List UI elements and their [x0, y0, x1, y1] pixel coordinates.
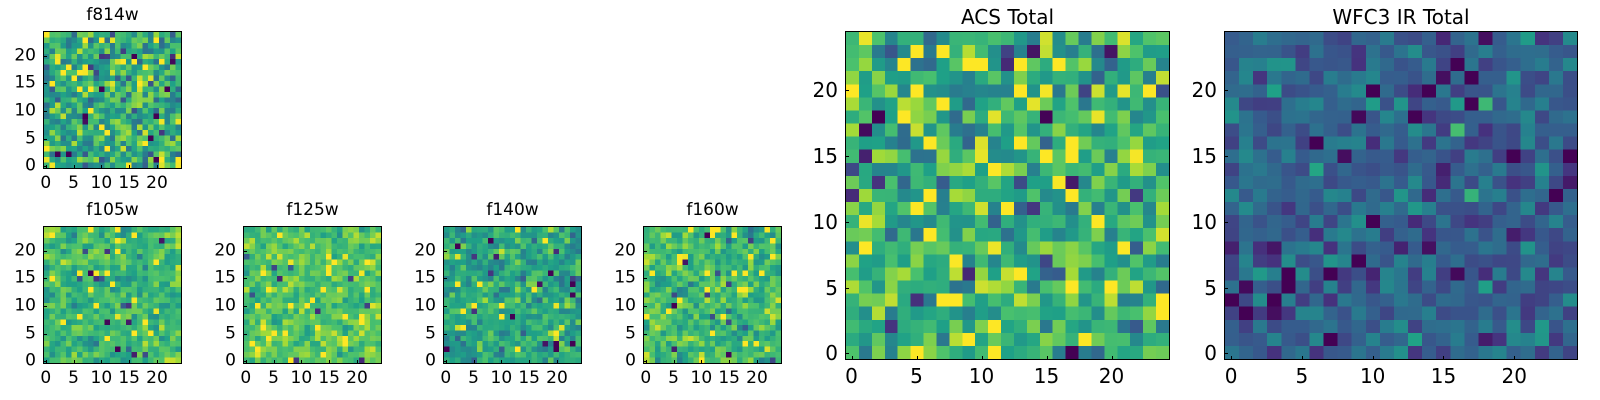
x-tick-label-f140w-20: 20	[546, 370, 568, 387]
x-tick-f160w-10	[701, 360, 702, 364]
x-tick-wfc3-ir-total-20	[1514, 356, 1515, 360]
y-tick-acs-total-10	[845, 222, 849, 223]
x-tick-f814w-15	[129, 165, 130, 169]
x-tick-f814w-5	[74, 165, 75, 169]
x-tick-f160w-20	[757, 360, 758, 364]
y-tick-wfc3-ir-total-20	[1224, 90, 1228, 91]
figure-canvas: f814w0510152005101520f105w05101520051015…	[0, 0, 1600, 400]
y-tick-label-f125w-0: 0	[203, 353, 236, 370]
x-tick-acs-total-15	[1047, 356, 1048, 360]
y-tick-f140w-15	[443, 278, 447, 279]
x-tick-wfc3-ir-total-15	[1443, 356, 1444, 360]
x-tick-f105w-5	[74, 360, 75, 364]
y-tick-f125w-0	[243, 361, 247, 362]
x-tick-label-f125w-5: 5	[268, 370, 279, 387]
y-tick-f105w-15	[43, 278, 47, 279]
heatmap-image-f105w	[44, 227, 181, 363]
panel-title-f140w: f140w	[443, 202, 582, 219]
x-tick-label-f140w-5: 5	[468, 370, 479, 387]
x-tick-acs-total-10	[982, 356, 983, 360]
x-tick-wfc3-ir-total-5	[1302, 356, 1303, 360]
heatmap-image-f140w	[444, 227, 581, 363]
x-tick-wfc3-ir-total-0	[1231, 356, 1232, 360]
y-tick-f814w-20	[43, 56, 47, 57]
x-tick-f125w-10	[301, 360, 302, 364]
panel-title-f814w: f814w	[43, 7, 182, 24]
y-tick-label-f105w-20: 20	[3, 242, 36, 259]
y-tick-f105w-5	[43, 334, 47, 335]
x-tick-label-f160w-0: 0	[640, 370, 651, 387]
y-tick-label-f105w-5: 5	[3, 325, 36, 342]
x-tick-label-f105w-10: 10	[91, 370, 113, 387]
x-tick-acs-total-0	[852, 356, 853, 360]
heatmap-image-f125w	[244, 227, 381, 363]
y-tick-acs-total-5	[845, 288, 849, 289]
x-tick-label-f125w-20: 20	[346, 370, 368, 387]
x-tick-label-f814w-5: 5	[68, 175, 79, 192]
y-tick-label-f814w-10: 10	[3, 103, 36, 120]
x-tick-label-f160w-5: 5	[668, 370, 679, 387]
y-tick-f140w-0	[443, 361, 447, 362]
x-tick-label-acs-total-20: 20	[1099, 366, 1124, 386]
panel-title-acs-total: ACS Total	[845, 7, 1170, 27]
x-tick-f105w-20	[157, 360, 158, 364]
y-tick-label-f125w-5: 5	[203, 325, 236, 342]
x-tick-f140w-5	[474, 360, 475, 364]
x-tick-label-f105w-0: 0	[40, 370, 51, 387]
y-tick-label-f125w-15: 15	[203, 270, 236, 287]
y-tick-label-f814w-20: 20	[3, 47, 36, 64]
panel-title-f160w: f160w	[643, 202, 782, 219]
y-tick-label-wfc3-ir-total-0: 0	[1184, 343, 1217, 363]
x-tick-label-wfc3-ir-total-0: 0	[1225, 366, 1238, 386]
y-tick-acs-total-20	[845, 90, 849, 91]
x-tick-label-f140w-10: 10	[491, 370, 513, 387]
y-tick-label-f160w-20: 20	[603, 242, 636, 259]
y-tick-f125w-10	[243, 306, 247, 307]
y-tick-f125w-15	[243, 278, 247, 279]
panel-f160w: f160w0510152005101520	[603, 200, 822, 398]
y-tick-f105w-20	[43, 251, 47, 252]
x-tick-acs-total-20	[1112, 356, 1113, 360]
heatmap-image-f814w	[44, 32, 181, 168]
x-tick-f140w-20	[557, 360, 558, 364]
y-tick-f140w-5	[443, 334, 447, 335]
x-tick-f125w-15	[329, 360, 330, 364]
y-tick-label-wfc3-ir-total-15: 15	[1184, 146, 1217, 166]
y-tick-acs-total-15	[845, 156, 849, 157]
panel-title-wfc3-ir-total: WFC3 IR Total	[1224, 7, 1578, 27]
x-tick-f105w-10	[101, 360, 102, 364]
x-tick-label-wfc3-ir-total-10: 10	[1360, 366, 1385, 386]
y-tick-label-f160w-15: 15	[603, 270, 636, 287]
panel-acs-total: ACS Total0510152005101520	[805, 5, 1210, 394]
y-tick-label-f140w-10: 10	[403, 298, 436, 315]
y-tick-label-acs-total-15: 15	[805, 146, 838, 166]
y-tick-label-acs-total-10: 10	[805, 212, 838, 232]
x-tick-label-f140w-15: 15	[518, 370, 540, 387]
heatmap-axes-acs-total	[845, 31, 1170, 360]
x-tick-label-wfc3-ir-total-15: 15	[1431, 366, 1456, 386]
heatmap-image-wfc3-ir-total	[1225, 32, 1577, 359]
x-tick-acs-total-5	[917, 356, 918, 360]
x-tick-label-f814w-15: 15	[118, 175, 140, 192]
y-tick-label-wfc3-ir-total-20: 20	[1184, 80, 1217, 100]
x-tick-f814w-20	[157, 165, 158, 169]
x-tick-label-f140w-0: 0	[440, 370, 451, 387]
y-tick-f140w-10	[443, 306, 447, 307]
y-tick-label-acs-total-0: 0	[805, 343, 838, 363]
heatmap-axes-f105w	[43, 226, 182, 364]
x-tick-label-f160w-10: 10	[691, 370, 713, 387]
y-tick-f814w-0	[43, 166, 47, 167]
y-tick-label-f105w-10: 10	[3, 298, 36, 315]
y-tick-label-f160w-5: 5	[603, 325, 636, 342]
x-tick-label-f160w-15: 15	[718, 370, 740, 387]
y-tick-label-f140w-5: 5	[403, 325, 436, 342]
y-tick-label-f160w-10: 10	[603, 298, 636, 315]
heatmap-image-f160w	[644, 227, 781, 363]
y-tick-f160w-0	[643, 361, 647, 362]
y-tick-label-wfc3-ir-total-5: 5	[1184, 278, 1217, 298]
y-tick-f125w-20	[243, 251, 247, 252]
y-tick-label-f160w-0: 0	[603, 353, 636, 370]
y-tick-label-f140w-0: 0	[403, 353, 436, 370]
x-tick-label-f125w-0: 0	[240, 370, 251, 387]
x-tick-label-wfc3-ir-total-5: 5	[1296, 366, 1309, 386]
x-tick-label-acs-total-0: 0	[845, 366, 858, 386]
y-tick-f160w-5	[643, 334, 647, 335]
y-tick-f105w-0	[43, 361, 47, 362]
y-tick-label-f814w-0: 0	[3, 158, 36, 175]
y-tick-label-acs-total-20: 20	[805, 80, 838, 100]
y-tick-wfc3-ir-total-0	[1224, 353, 1228, 354]
y-tick-f814w-15	[43, 83, 47, 84]
y-tick-label-f814w-5: 5	[3, 130, 36, 147]
x-tick-label-f814w-20: 20	[146, 175, 168, 192]
y-tick-f140w-20	[443, 251, 447, 252]
y-tick-wfc3-ir-total-5	[1224, 288, 1228, 289]
y-tick-label-f125w-10: 10	[203, 298, 236, 315]
x-tick-label-f105w-5: 5	[68, 370, 79, 387]
x-tick-label-f125w-15: 15	[318, 370, 340, 387]
x-tick-label-f125w-10: 10	[291, 370, 313, 387]
x-tick-label-f814w-10: 10	[91, 175, 113, 192]
y-tick-f105w-10	[43, 306, 47, 307]
x-tick-f140w-10	[501, 360, 502, 364]
panel-f125w: f125w0510152005101520	[203, 200, 422, 398]
y-tick-f160w-15	[643, 278, 647, 279]
x-tick-label-f105w-20: 20	[146, 370, 168, 387]
x-tick-f814w-10	[101, 165, 102, 169]
y-tick-label-f140w-20: 20	[403, 242, 436, 259]
y-tick-wfc3-ir-total-10	[1224, 222, 1228, 223]
heatmap-axes-f160w	[643, 226, 782, 364]
y-tick-label-f814w-15: 15	[3, 75, 36, 92]
y-tick-f125w-5	[243, 334, 247, 335]
y-tick-label-f105w-0: 0	[3, 353, 36, 370]
panel-title-f125w: f125w	[243, 202, 382, 219]
x-tick-f125w-5	[274, 360, 275, 364]
y-tick-f814w-10	[43, 111, 47, 112]
y-tick-label-f140w-15: 15	[403, 270, 436, 287]
y-tick-wfc3-ir-total-15	[1224, 156, 1228, 157]
y-tick-label-f105w-15: 15	[3, 270, 36, 287]
panel-f814w: f814w0510152005101520	[3, 5, 222, 203]
heatmap-axes-f814w	[43, 31, 182, 169]
y-tick-f814w-5	[43, 139, 47, 140]
x-tick-label-wfc3-ir-total-20: 20	[1502, 366, 1527, 386]
heatmap-axes-f140w	[443, 226, 582, 364]
x-tick-f140w-15	[529, 360, 530, 364]
x-tick-label-f160w-20: 20	[746, 370, 768, 387]
x-tick-f105w-15	[129, 360, 130, 364]
x-tick-label-f814w-0: 0	[40, 175, 51, 192]
y-tick-label-f125w-20: 20	[203, 242, 236, 259]
y-tick-label-acs-total-5: 5	[805, 278, 838, 298]
panel-f140w: f140w0510152005101520	[403, 200, 622, 398]
x-tick-label-acs-total-15: 15	[1034, 366, 1059, 386]
x-tick-label-acs-total-10: 10	[969, 366, 994, 386]
panel-title-f105w: f105w	[43, 202, 182, 219]
x-tick-f160w-15	[729, 360, 730, 364]
panel-wfc3-ir-total: WFC3 IR Total0510152005101520	[1184, 5, 1600, 394]
heatmap-image-acs-total	[846, 32, 1169, 359]
y-tick-f160w-20	[643, 251, 647, 252]
x-tick-f160w-5	[674, 360, 675, 364]
heatmap-axes-f125w	[243, 226, 382, 364]
heatmap-axes-wfc3-ir-total	[1224, 31, 1578, 360]
x-tick-label-f105w-15: 15	[118, 370, 140, 387]
x-tick-wfc3-ir-total-10	[1373, 356, 1374, 360]
y-tick-f160w-10	[643, 306, 647, 307]
y-tick-label-wfc3-ir-total-10: 10	[1184, 212, 1217, 232]
panel-f105w: f105w0510152005101520	[3, 200, 222, 398]
y-tick-acs-total-0	[845, 353, 849, 354]
x-tick-f125w-20	[357, 360, 358, 364]
x-tick-label-acs-total-5: 5	[910, 366, 923, 386]
